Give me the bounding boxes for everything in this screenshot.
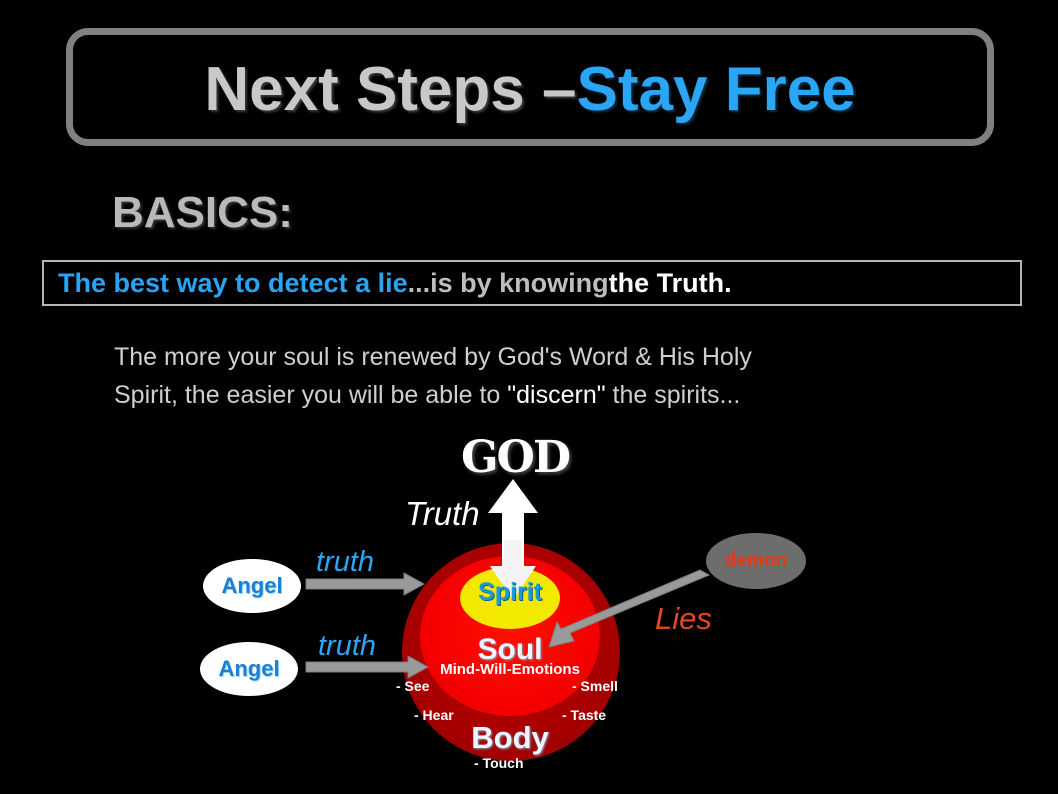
statement-blue-part: The best way to detect a lie [58, 268, 408, 299]
slide-canvas: Next Steps – Stay Free BASICS: The best … [0, 0, 1058, 794]
demon-lies-arrow-icon [549, 570, 709, 647]
spirit-label: Spirit [460, 578, 560, 607]
spirit-ellipse-shape [460, 567, 560, 629]
page-title: Next Steps – Stay Free [66, 44, 994, 134]
paragraph-line-2: Spirit, the easier you will be able to "… [114, 376, 964, 414]
lies-label: Lies [655, 601, 712, 637]
soul-circle-shape [420, 556, 600, 716]
body-label: Body [435, 720, 585, 756]
title-part-blue: Stay Free [577, 54, 856, 125]
statement-gray-part: ...is by knowing [408, 268, 609, 299]
demon-ellipse-shape [706, 533, 806, 589]
soul-label: Soul [435, 633, 585, 667]
angel-truth-arrow-icon-1 [306, 573, 424, 595]
angel-label-2: Angel [200, 656, 298, 682]
statement-white-part: the Truth. [609, 268, 732, 299]
body-paragraph: The more your soul is renewed by God's W… [114, 338, 964, 414]
statement-text: The best way to detect a lie ...is by kn… [58, 262, 732, 304]
angel-ellipse-shape-1 [203, 559, 301, 613]
paragraph-line-1: The more your soul is renewed by God's W… [114, 338, 964, 376]
angel-truth-arrow-icon-2 [306, 656, 428, 678]
soul-sub-label: Mind-Will-Emotions [420, 661, 600, 678]
angel-arrow-label-1: truth [316, 546, 374, 579]
paragraph-line2-after: the spirits... [606, 381, 741, 409]
god-label: GOD [455, 432, 575, 483]
angel-ellipse-shape-2 [200, 642, 298, 696]
sense-label-taste: - Taste [562, 707, 606, 723]
section-heading-basics: BASICS: [112, 188, 293, 238]
title-part-gray: Next Steps – [204, 54, 576, 125]
paragraph-discern-emphasis: "discern" [507, 381, 605, 409]
truth-double-arrow-icon [488, 479, 538, 600]
sense-label-touch: - Touch [474, 755, 524, 771]
truth-label: Truth [405, 495, 480, 533]
body-circle-shape [402, 543, 620, 761]
paragraph-line2-before: Spirit, the easier you will be able to [114, 381, 507, 409]
angel-label-1: Angel [203, 573, 301, 599]
sense-label-see: - See [396, 678, 429, 694]
demon-label: demon [706, 550, 806, 572]
sense-label-smell: - Smell [572, 678, 618, 694]
angel-arrow-label-2: truth [318, 630, 376, 663]
sense-label-hear: - Hear [414, 707, 454, 723]
